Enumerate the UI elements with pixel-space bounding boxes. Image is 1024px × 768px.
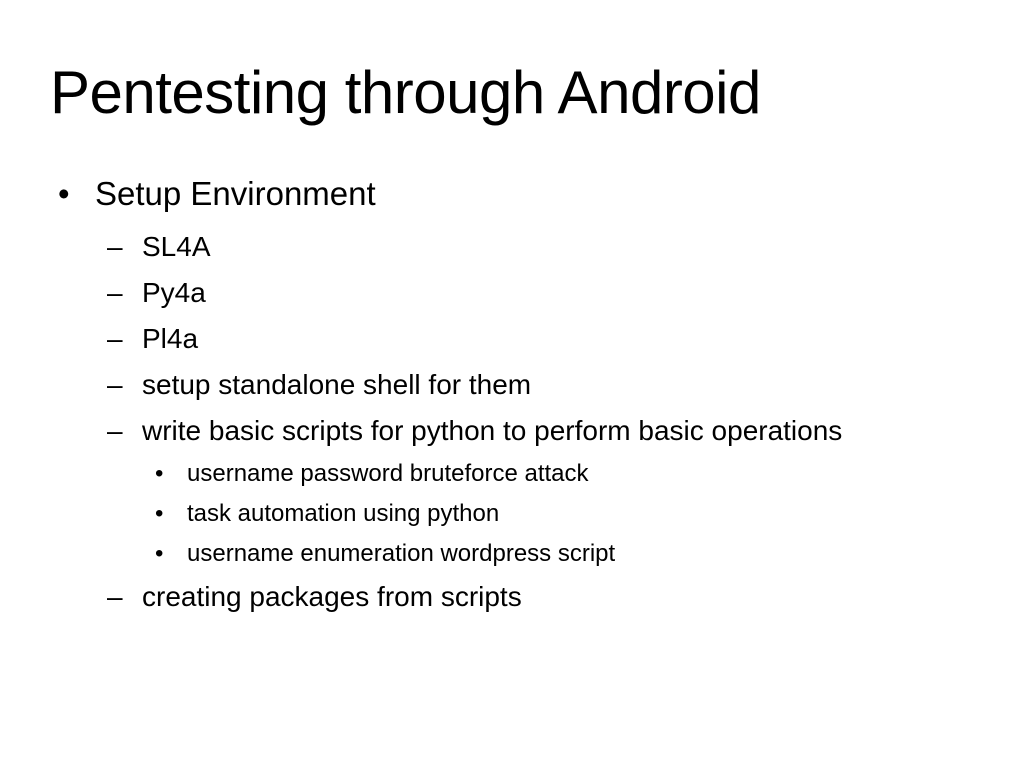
bullet-dot-icon: • [155, 494, 177, 534]
bullet-dot-icon: • [155, 454, 177, 494]
slide-title: Pentesting through Android [50, 58, 974, 128]
outline-list: • Setup Environment – SL4A – Py4a – Pl4a [0, 172, 1024, 620]
outline-item-label: Py4a [142, 277, 206, 308]
outline-item-pl4a: – Pl4a [0, 316, 1024, 362]
outline-item-label: Setup Environment [95, 175, 376, 212]
outline-item-sl4a: – SL4A [0, 224, 1024, 270]
outline-sublist-level2: – SL4A – Py4a – Pl4a – setup standalone … [0, 224, 1024, 620]
outline-item-label: username password bruteforce attack [187, 460, 589, 487]
outline-item-creating-packages: – creating packages from scripts [0, 574, 1024, 620]
outline-item-bruteforce: • username password bruteforce attack [0, 454, 1024, 494]
outline-item-setup-shell: – setup standalone shell for them [0, 362, 1024, 408]
outline-item-label: setup standalone shell for them [142, 369, 531, 400]
bullet-dot-icon: • [155, 534, 177, 574]
outline-item-py4a: – Py4a [0, 270, 1024, 316]
outline-item-label: username enumeration wordpress script [187, 540, 615, 567]
outline-item-write-scripts: – write basic scripts for python to perf… [0, 408, 1024, 454]
outline-item-level1: • Setup Environment [0, 172, 1024, 216]
bullet-dash-icon: – [107, 362, 131, 408]
outline-item-label: Pl4a [142, 323, 198, 354]
bullet-dot-icon: • [58, 172, 80, 216]
bullet-dash-icon: – [107, 224, 131, 270]
outline-item-label: write basic scripts for python to perfor… [142, 415, 842, 446]
outline-sublist-level3: • username password bruteforce attack • … [0, 454, 1024, 574]
bullet-dash-icon: – [107, 574, 131, 620]
slide: Pentesting through Android • Setup Envir… [0, 0, 1024, 768]
outline-item-label: creating packages from scripts [142, 581, 522, 612]
outline-item-label: SL4A [142, 231, 211, 262]
outline-item-username-enumeration: • username enumeration wordpress script [0, 534, 1024, 574]
bullet-dash-icon: – [107, 316, 131, 362]
bullet-dash-icon: – [107, 270, 131, 316]
bullet-dash-icon: – [107, 408, 131, 454]
outline-item-task-automation: • task automation using python [0, 494, 1024, 534]
slide-body: • Setup Environment – SL4A – Py4a – Pl4a [0, 172, 1024, 620]
outline-item-label: task automation using python [187, 500, 499, 527]
